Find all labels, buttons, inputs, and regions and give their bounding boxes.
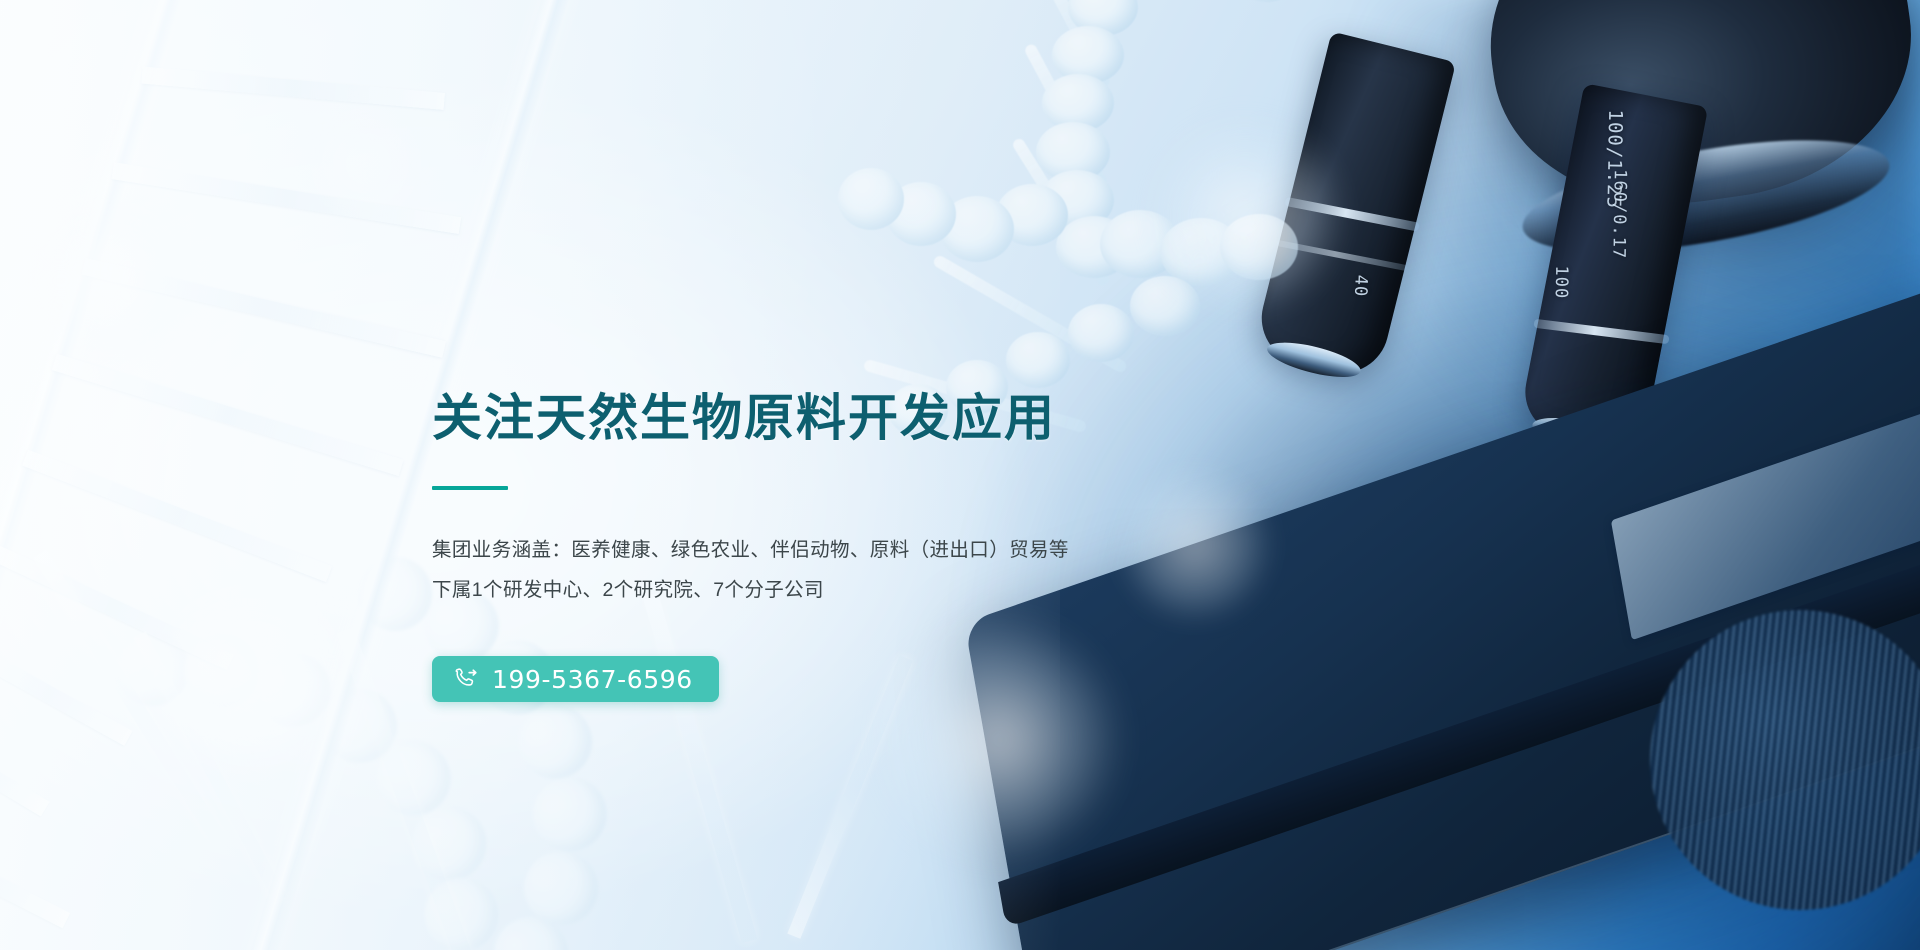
banner-content: 关注天然生物原料开发应用 集团业务涵盖：医养健康、绿色农业、伴侣动物、原料（进出…	[432, 390, 1252, 702]
description-line-2: 下属1个研发中心、2个研究院、7个分子公司	[432, 570, 1252, 610]
title-accent-rule	[432, 486, 508, 490]
background-deep-blue-top-right	[1360, 0, 1920, 560]
phone-cta-button[interactable]: 199-5367-6596	[432, 656, 719, 702]
phone-number-label: 199-5367-6596	[492, 667, 693, 692]
description-line-1: 集团业务涵盖：医养健康、绿色农业、伴侣动物、原料（进出口）贸易等	[432, 530, 1252, 570]
page-title: 关注天然生物原料开发应用	[432, 390, 1252, 447]
hero-banner: 40 100/1.25 160/0.17 100	[0, 0, 1920, 950]
phone-forward-icon	[454, 667, 479, 692]
banner-description: 集团业务涵盖：医养健康、绿色农业、伴侣动物、原料（进出口）贸易等 下属1个研发中…	[432, 530, 1252, 610]
